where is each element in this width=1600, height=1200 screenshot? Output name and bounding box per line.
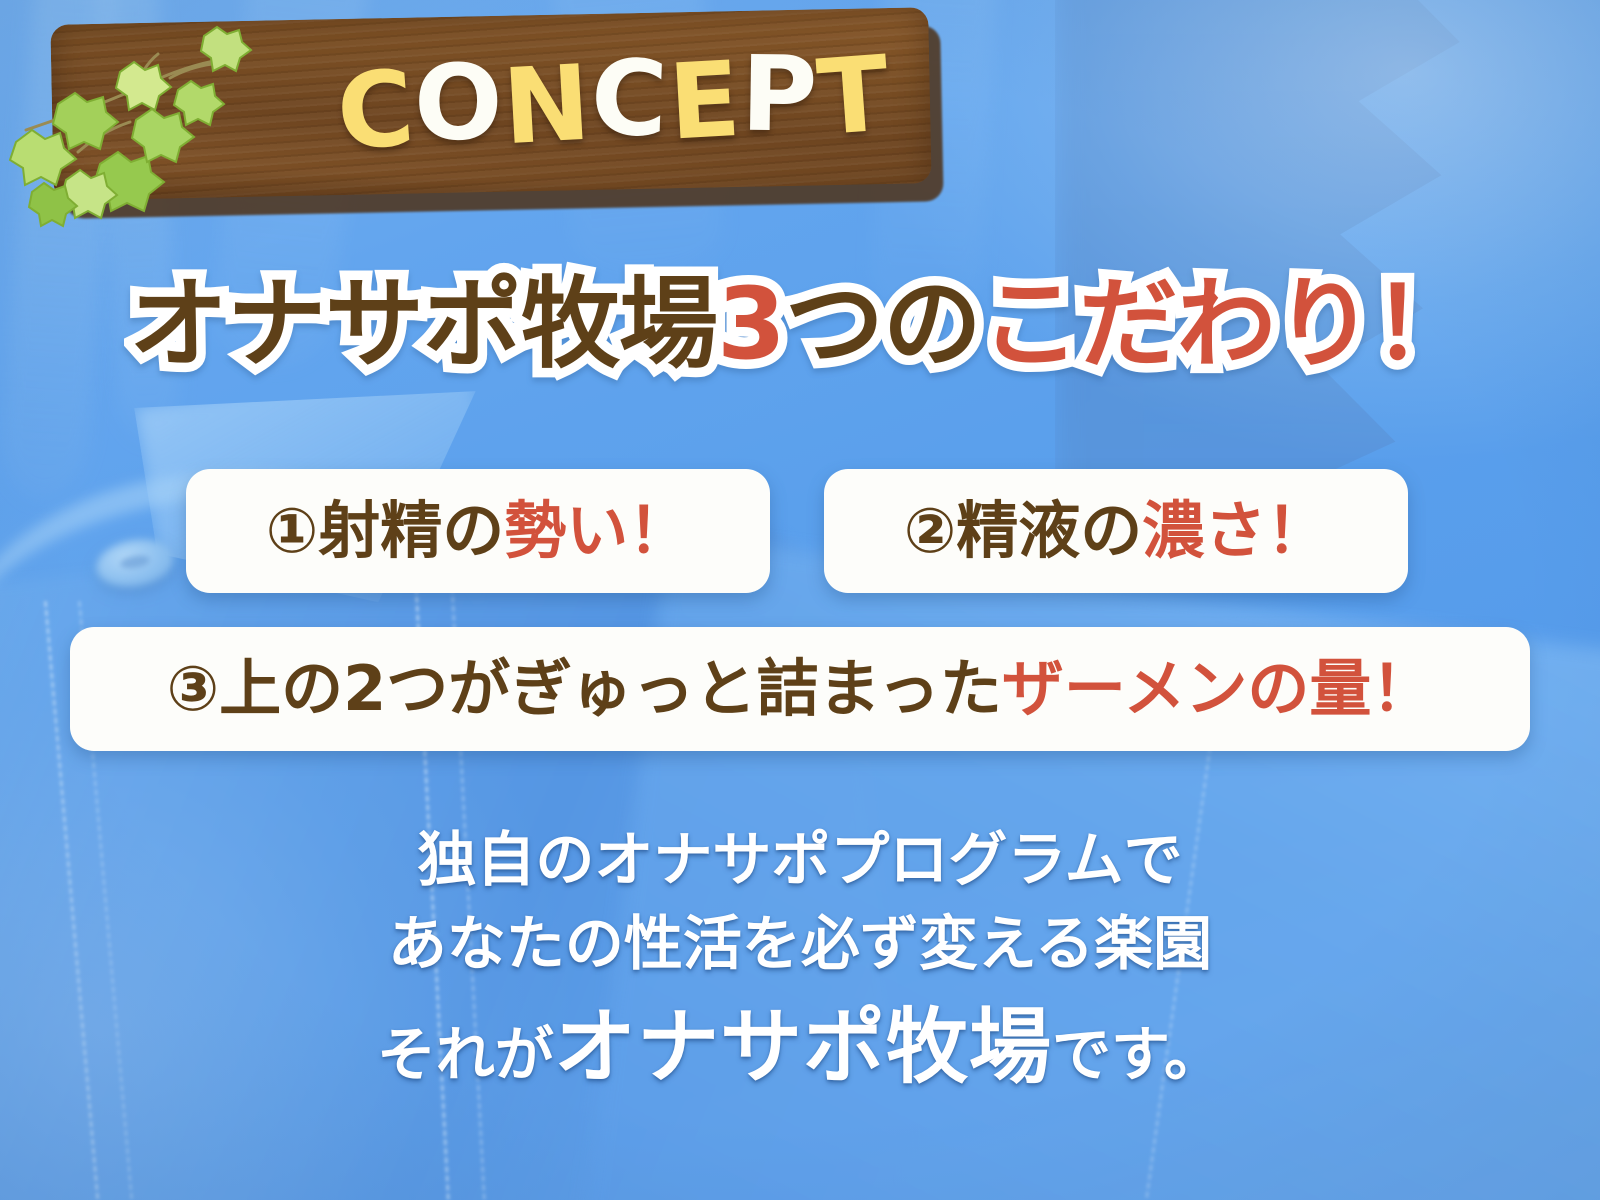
feature-3-marker: ③ bbox=[167, 652, 220, 725]
concept-sign: C O N C E P T bbox=[52, 16, 952, 226]
feature-1-lead: 射精の bbox=[318, 494, 504, 567]
feature-3-lead: 上の2つがぎゅっと詰まった bbox=[219, 652, 1002, 725]
sign-letter: C bbox=[590, 45, 671, 151]
feature-pill-1: ①射精の勢い！ bbox=[186, 469, 770, 593]
feature-1-emphasis: 勢い！ bbox=[504, 494, 690, 567]
outro-line-3-post: です。 bbox=[1052, 1020, 1223, 1089]
feature-pill-1-text: ①射精の勢い！ bbox=[266, 500, 691, 562]
headline-part-1: オナサポ牧場 bbox=[129, 267, 717, 382]
outro-brand-name: オナサポ牧場 bbox=[554, 1000, 1052, 1095]
feature-2-marker: ② bbox=[904, 494, 957, 567]
feature-2-emphasis: 濃さ！ bbox=[1142, 494, 1328, 567]
sign-letter: E bbox=[666, 47, 744, 155]
outro-line-1: 独自のオナサポプログラムで bbox=[0, 818, 1600, 902]
feature-3-emphasis: ザーメンの量！ bbox=[1002, 652, 1434, 725]
headline-part-3: つの bbox=[785, 267, 981, 382]
feature-pill-3-text: ③上の2つがぎゅっと詰まったザーメンの量！ bbox=[167, 658, 1434, 720]
sign-letter: P bbox=[740, 42, 819, 147]
headline-number: 3 bbox=[717, 267, 785, 382]
feature-2-lead: 精液の bbox=[956, 494, 1142, 567]
sign-letter: C bbox=[333, 56, 418, 165]
sign-letter: N bbox=[501, 51, 595, 160]
headline-part-4: こだわり！ bbox=[981, 267, 1471, 382]
outro-line-3: それがオナサポ牧場です。 bbox=[0, 990, 1600, 1106]
outro-line-2: あなたの性活を必ず変える楽園 bbox=[0, 902, 1600, 986]
concept-banner: C O N C E P T bbox=[0, 0, 1600, 1200]
feature-pill-2: ②精液の濃さ！ bbox=[824, 469, 1408, 593]
feature-pill-2-text: ②精液の濃さ！ bbox=[904, 500, 1329, 562]
ivy-decoration-icon bbox=[8, 12, 278, 232]
sign-letter: O bbox=[413, 50, 504, 155]
feature-pill-3: ③上の2つがぎゅっと詰まったザーメンの量！ bbox=[70, 627, 1530, 751]
feature-1-marker: ① bbox=[266, 494, 319, 567]
headline: オナサポ牧場3つのこだわり！ bbox=[0, 272, 1600, 379]
sign-letter: T bbox=[814, 41, 893, 150]
outro-paragraph: 独自のオナサポプログラムで あなたの性活を必ず変える楽園 それがオナサポ牧場です… bbox=[0, 818, 1600, 1106]
outro-line-3-pre: それが bbox=[377, 1020, 554, 1089]
